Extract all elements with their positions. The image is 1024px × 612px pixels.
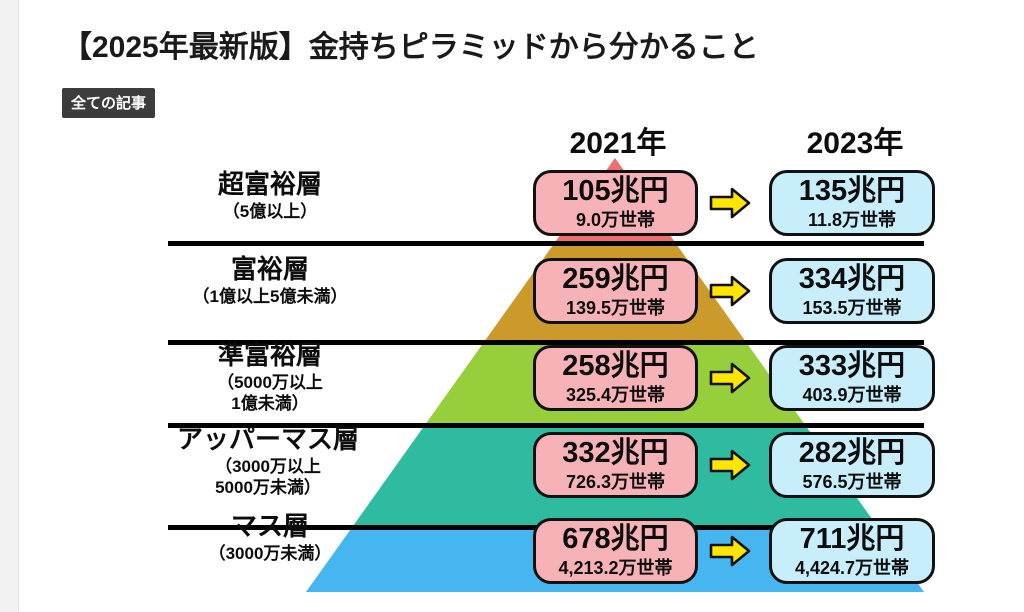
value-households-2021-upper-mass: 726.3万世帯	[566, 473, 665, 491]
value-box-2023-jun-fuyu[interactable]: 333兆円 403.9万世帯	[769, 345, 935, 411]
infographic-page: 【2025年最新版】金持ちピラミッドから分かること 全ての記事 2021年 20…	[0, 0, 1024, 612]
value-box-2021-jun-fuyu[interactable]: 258兆円 325.4万世帯	[533, 345, 698, 411]
left-gutter-strip	[0, 0, 18, 612]
value-households-2021-jun-fuyu: 325.4万世帯	[566, 386, 665, 404]
tier-name-mass: マス層	[150, 512, 390, 540]
column-header-2023: 2023年	[790, 118, 920, 162]
value-box-2023-cho-fuyu[interactable]: 135兆円 11.8万世帯	[769, 170, 935, 236]
tier-label-fuyu: 富裕層 （1億以上5億未満）	[150, 255, 390, 307]
tier-name-cho-fuyu: 超富裕層	[150, 170, 390, 198]
divider-line-1	[168, 241, 924, 246]
transition-arrow-icon-jun-fuyu	[709, 361, 751, 395]
value-amount-2021-upper-mass: 332兆円	[562, 439, 668, 468]
transition-arrow-icon-upper-mass	[709, 448, 751, 482]
tier-label-mass: マス層 （3000万未満）	[150, 512, 390, 564]
value-households-2021-mass: 4,213.2万世帯	[558, 559, 672, 577]
value-households-2021-fuyu: 139.5万世帯	[566, 299, 665, 317]
value-amount-2021-fuyu: 259兆円	[562, 265, 668, 294]
tier-range-jun-fuyu-line1: （5000万以上	[150, 373, 390, 393]
value-amount-2023-fuyu: 334兆円	[799, 265, 905, 294]
column-header-2021: 2021年	[553, 118, 683, 162]
tier-name-fuyu: 富裕層	[150, 255, 390, 283]
value-households-2023-upper-mass: 576.5万世帯	[802, 473, 901, 491]
value-households-2023-jun-fuyu: 403.9万世帯	[802, 386, 901, 404]
transition-arrow-icon-mass	[709, 534, 751, 568]
value-amount-2023-jun-fuyu: 333兆円	[799, 352, 905, 381]
value-amount-2023-mass: 711兆円	[800, 525, 905, 554]
value-amount-2021-mass: 678兆円	[562, 525, 668, 554]
all-articles-badge[interactable]: 全ての記事	[62, 88, 155, 118]
page-title: 【2025年最新版】金持ちピラミッドから分かること	[62, 22, 759, 66]
tier-name-jun-fuyu: 準富裕層	[150, 341, 390, 369]
value-box-2023-upper-mass[interactable]: 282兆円 576.5万世帯	[769, 432, 935, 498]
tier-range-cho-fuyu-line1: （5億以上）	[150, 202, 390, 222]
value-amount-2023-upper-mass: 282兆円	[799, 439, 905, 468]
value-box-2023-fuyu[interactable]: 334兆円 153.5万世帯	[769, 258, 935, 324]
tier-range-jun-fuyu-line2: 1億未満）	[150, 394, 390, 414]
tier-range-mass-line1: （3000万未満）	[150, 544, 390, 564]
value-box-2021-upper-mass[interactable]: 332兆円 726.3万世帯	[533, 432, 698, 498]
tier-label-cho-fuyu: 超富裕層 （5億以上）	[150, 170, 390, 222]
value-box-2021-cho-fuyu[interactable]: 105兆円 9.0万世帯	[533, 170, 698, 236]
transition-arrow-icon-cho-fuyu	[709, 186, 751, 220]
value-box-2021-mass[interactable]: 678兆円 4,213.2万世帯	[533, 518, 698, 584]
value-amount-2023-cho-fuyu: 135兆円	[799, 177, 905, 206]
tier-range-upper-mass-line1: （3000万以上	[138, 457, 398, 477]
value-box-2021-fuyu[interactable]: 259兆円 139.5万世帯	[533, 258, 698, 324]
tier-range-upper-mass-line2: 5000万未満）	[138, 478, 398, 498]
tier-name-upper-mass: アッパーマス層	[138, 425, 398, 453]
value-households-2023-mass: 4,424.7万世帯	[795, 559, 909, 577]
tier-label-upper-mass: アッパーマス層 （3000万以上 5000万未満）	[138, 425, 398, 498]
value-households-2023-fuyu: 153.5万世帯	[802, 299, 901, 317]
transition-arrow-icon-fuyu	[709, 274, 751, 308]
left-gutter-edge	[18, 0, 19, 612]
value-households-2023-cho-fuyu: 11.8万世帯	[808, 211, 896, 229]
value-amount-2021-jun-fuyu: 258兆円	[562, 352, 668, 381]
value-households-2021-cho-fuyu: 9.0万世帯	[576, 211, 655, 229]
value-amount-2021-cho-fuyu: 105兆円	[562, 177, 668, 206]
tier-range-fuyu-line1: （1億以上5億未満）	[150, 287, 390, 307]
value-box-2023-mass[interactable]: 711兆円 4,424.7万世帯	[769, 518, 935, 584]
tier-label-jun-fuyu: 準富裕層 （5000万以上 1億未満）	[150, 341, 390, 414]
